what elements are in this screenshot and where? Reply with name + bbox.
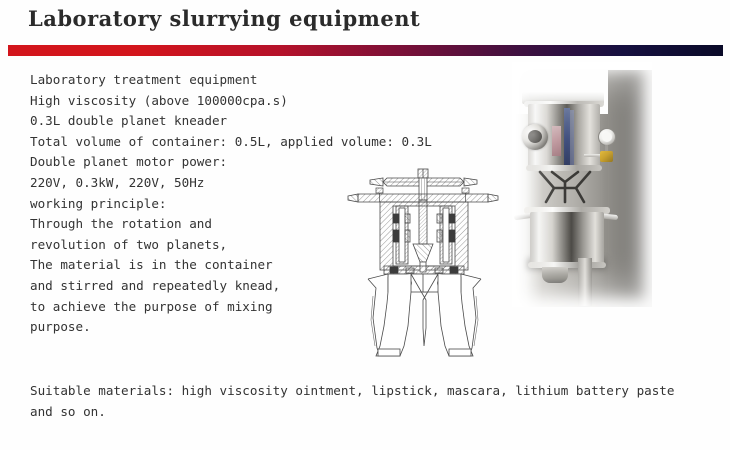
spec-line: High viscosity (above 100000cpa.s) <box>30 91 450 112</box>
photo-background-column <box>608 70 652 307</box>
product-detail-page: Laboratory slurrying equipment Laborator… <box>0 0 730 450</box>
spec-line: 0.3L double planet kneader <box>30 111 450 132</box>
mixing-kettle <box>530 212 604 268</box>
pressure-gauge-face <box>602 132 612 142</box>
kneader-cross-section-svg <box>340 168 520 368</box>
mixer-blue-hose-2 <box>570 110 574 168</box>
mixer-inner-liner <box>552 126 561 156</box>
agitator-cage-svg <box>534 170 596 204</box>
technical-drawing <box>340 168 520 368</box>
mixer-sight-glass-core <box>528 130 542 143</box>
kettle-foot <box>542 267 568 283</box>
brass-valve <box>600 151 613 162</box>
footer-line: and so on. <box>30 402 710 423</box>
photo-canvas <box>512 62 652 307</box>
gradient-divider <box>8 45 723 56</box>
machine-support-column <box>578 258 592 306</box>
spec-line: Total volume of container: 0.5L, applied… <box>30 132 450 153</box>
footer-line: Suitable materials: high viscosity ointm… <box>30 381 710 402</box>
page-title: Laboratory slurrying equipment <box>28 6 420 31</box>
product-photo <box>512 62 652 307</box>
spec-line: Laboratory treatment equipment <box>30 70 450 91</box>
mixer-agitator-cage <box>534 170 596 204</box>
footer-text-block: Suitable materials: high viscosity ointm… <box>30 381 710 422</box>
